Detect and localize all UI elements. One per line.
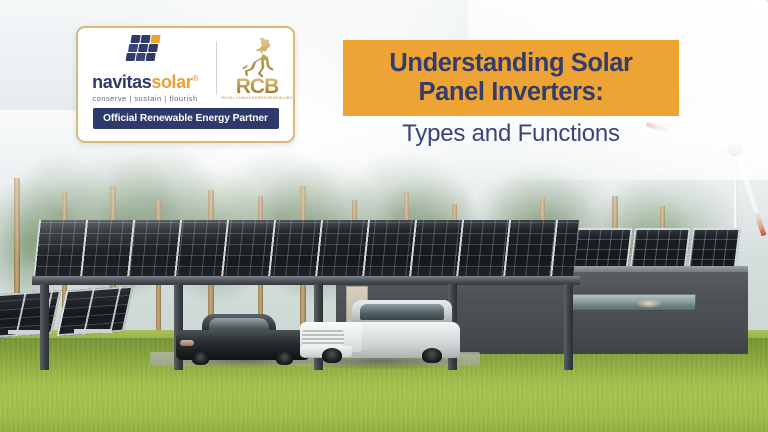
rcb-wordmark: RCB	[236, 78, 279, 96]
navitas-word-primary: navitas	[92, 72, 151, 92]
suv-wheel	[422, 348, 442, 363]
title-line-1: Understanding Solar	[389, 49, 632, 78]
subtitle: Types and Functions	[343, 118, 679, 150]
registered-mark: ®	[192, 74, 198, 83]
navitas-word-secondary: solar	[151, 72, 192, 92]
partner-badge: Official Renewable Energy Partner	[93, 108, 279, 129]
title-line-2: Panel Inverters:	[419, 78, 604, 107]
white-suv	[300, 300, 460, 362]
sedan-wheel	[192, 352, 209, 365]
sedan-wheel	[276, 352, 293, 365]
partner-badge-label: Official Renewable Energy Partner	[103, 113, 268, 124]
lion-rampant-icon	[234, 36, 280, 78]
solar-panel-grid-icon	[122, 33, 168, 70]
sedan-taillight	[180, 340, 194, 346]
title-banner: Understanding Solar Panel Inverters:	[343, 40, 679, 116]
rcb-subtext: ROYAL CHALLENGERS BENGALURU	[222, 96, 293, 100]
carport-beam	[32, 276, 580, 285]
partner-logo-card: navitassolar® conserve | sustain | flour…	[76, 26, 295, 143]
logo-divider	[216, 41, 217, 95]
dark-sedan	[176, 314, 310, 362]
panel-sheen	[33, 220, 579, 278]
carport-column	[564, 284, 573, 370]
logo-row: navitassolar® conserve | sustain | flour…	[78, 28, 293, 106]
suv-wheel	[322, 348, 342, 363]
promo-banner: navitassolar® conserve | sustain | flour…	[0, 0, 768, 432]
carport-column	[40, 284, 49, 370]
navitas-solar-logo: navitassolar® conserve | sustain | flour…	[84, 33, 206, 103]
suv-windshield	[360, 304, 444, 320]
suv-grille	[302, 330, 344, 346]
rcb-logo: RCB ROYAL CHALLENGERS BENGALURU	[227, 36, 287, 101]
window-reflection	[636, 299, 662, 308]
navitas-tagline: conserve | sustain | flourish	[92, 94, 197, 103]
navitas-wordmark: navitassolar®	[92, 73, 198, 91]
carport-solar-panels	[33, 220, 579, 278]
